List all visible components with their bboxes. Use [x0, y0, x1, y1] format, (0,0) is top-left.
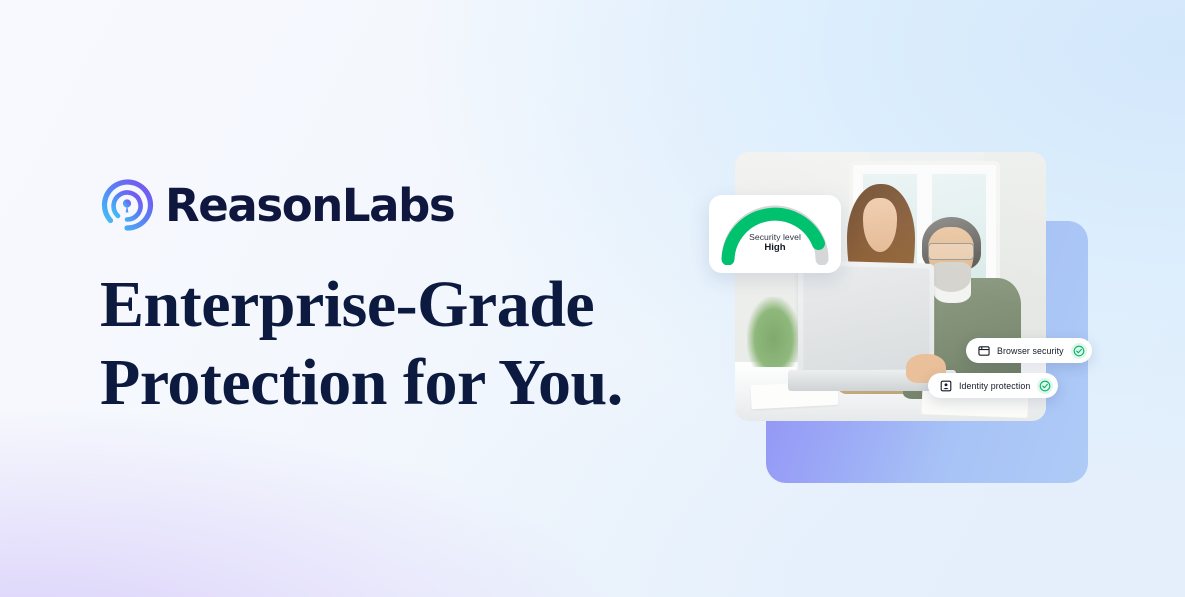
page-title: Enterprise-Grade Protection for You.: [100, 266, 680, 422]
chip-browser-security-label: Browser security: [997, 346, 1064, 356]
security-level-card: Security level High: [709, 195, 841, 273]
chip-identity-protection-label: Identity protection: [959, 381, 1030, 391]
hero-banner: ReasonLabs Enterprise-Grade Protection f…: [0, 0, 1185, 597]
hero-content: ReasonLabs Enterprise-Grade Protection f…: [100, 172, 680, 422]
hero-visual: Security level High Browser security: [709, 140, 1109, 460]
reasonlabs-keyhole-logo-icon: [100, 178, 154, 232]
security-level-text: Security level High: [709, 232, 841, 254]
browser-window-icon: [978, 345, 990, 357]
chip-identity-protection[interactable]: Identity protection: [928, 373, 1058, 398]
chip-browser-security[interactable]: Browser security: [966, 338, 1092, 363]
check-circle-icon: [1071, 343, 1087, 359]
security-level-value: High: [709, 242, 841, 254]
identity-card-icon: [940, 380, 952, 392]
brand-wordmark: ReasonLabs: [165, 183, 454, 228]
security-level-label: Security level: [709, 232, 841, 242]
check-circle-icon: [1037, 378, 1053, 394]
brand-logo[interactable]: ReasonLabs: [100, 172, 680, 238]
